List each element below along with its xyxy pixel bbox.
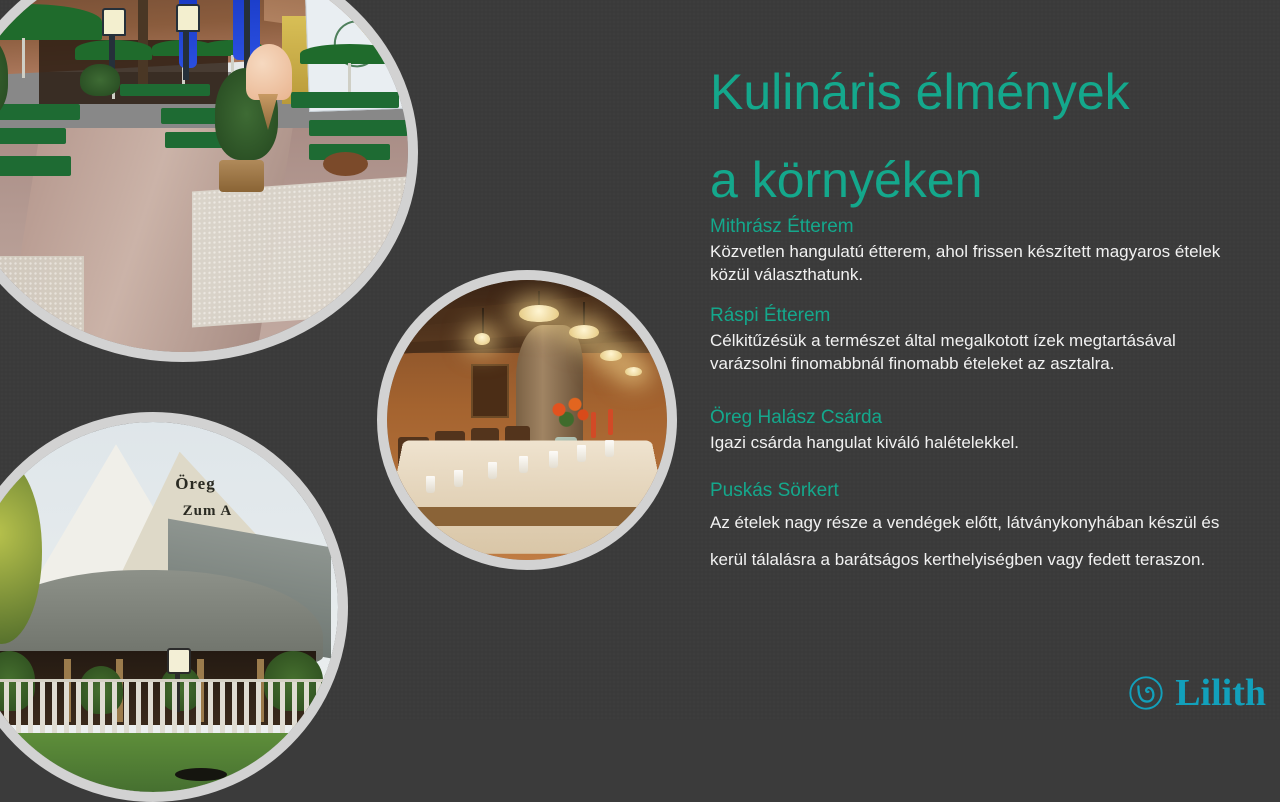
candle-2: [608, 409, 613, 435]
building-sign-line1: Öreg: [175, 474, 216, 494]
pendant-lamp-4: [600, 350, 622, 361]
ice-cream-sign: [246, 44, 292, 100]
bench-2: [0, 128, 66, 144]
section-puskas-sorkert: Puskás Sörkert Az ételek nagy része a ve…: [710, 478, 1230, 578]
photo-csarda-building: Öreg Zum A: [0, 412, 348, 802]
section-oreg-halasz-csarda: Öreg Halász Csárda Igazi csárda hangulat…: [710, 405, 1230, 454]
bench-4: [120, 84, 210, 96]
bench-6: [165, 132, 224, 148]
lilith-circle-icon: [1127, 674, 1165, 712]
section-heading: Mithrász Étterem: [710, 214, 1230, 240]
flower-bouquet: [544, 392, 594, 436]
bench-3: [0, 156, 71, 176]
lamp-post-2: [183, 24, 189, 80]
lilith-wordmark: Lilith: [1175, 674, 1266, 712]
page-title: Kulináris élmények a környéken: [710, 48, 1230, 224]
section-raspi-etterem: Ráspi Étterem Célkitűzésük a természet á…: [710, 303, 1230, 375]
beer-garden-scene: [0, 0, 408, 352]
glass-2: [454, 470, 463, 487]
section-mithrasz-etterem: Mithrász Étterem Közvetlen hangulatú étt…: [710, 214, 1230, 286]
section-body: Igazi csárda hangulat kiváló halételekke…: [710, 431, 1230, 454]
gravel-left: [0, 256, 84, 344]
candle-1: [591, 412, 596, 438]
pendant-lamp-1: [474, 333, 490, 345]
section-heading: Ráspi Étterem: [710, 303, 1230, 329]
glass-3: [488, 462, 497, 479]
gravel-right: [192, 176, 408, 327]
section-body: Az ételek nagy része a vendégek előtt, l…: [710, 504, 1230, 578]
pendant-lamp-5: [625, 367, 642, 376]
content-column: Kulináris élmények a környéken Mithrász …: [710, 0, 1230, 720]
bench-1: [0, 104, 80, 120]
building-sign-line2: Zum A: [183, 503, 233, 520]
section-body: Közvetlen hangulatú étterem, ahol frisse…: [710, 240, 1230, 286]
lamp-cord-3: [583, 302, 585, 327]
lamp-cord-1: [482, 308, 484, 336]
section-body: Célkitűzésük a természet által megalkoto…: [710, 329, 1230, 375]
pendant-lamp-2: [519, 305, 559, 322]
bench-8: [309, 120, 408, 136]
photo-beer-garden: [0, 0, 418, 362]
umbrella-green-right: [300, 44, 399, 64]
csarda-scene: Öreg Zum A: [0, 422, 338, 792]
wall-picture: [471, 364, 509, 418]
glass-5: [549, 451, 558, 468]
shrub-small: [80, 64, 121, 96]
section-heading: Öreg Halász Csárda: [710, 405, 1230, 431]
glass-1: [426, 476, 435, 493]
section-heading: Puskás Sörkert: [710, 478, 1230, 504]
dog: [175, 768, 227, 781]
bench-7: [291, 92, 399, 108]
restaurant-interior-scene: [387, 280, 667, 560]
planter-barrel: [219, 160, 264, 192]
photo-restaurant-interior: [377, 270, 677, 570]
picket-fence: [0, 679, 338, 741]
brand-logo: Lilith: [1127, 674, 1266, 712]
glass-7: [605, 440, 614, 457]
pendant-lamp-3: [569, 325, 599, 339]
table-carved-edge: [398, 507, 656, 527]
glass-4: [519, 456, 528, 473]
lawn: [0, 733, 338, 792]
flower-bowl: [323, 152, 368, 176]
glass-6: [577, 445, 586, 462]
